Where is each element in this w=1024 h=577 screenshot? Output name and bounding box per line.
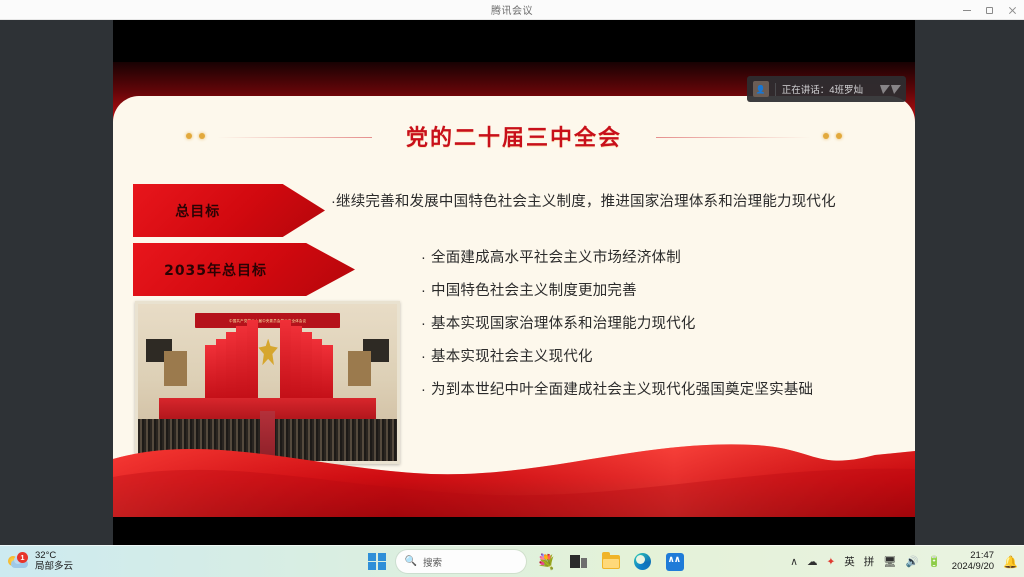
chip-divider [775,83,776,96]
notification-bell-icon[interactable]: 🔔 [1003,555,1018,569]
red-flag [226,332,237,404]
file-explorer-button[interactable] [600,551,622,573]
hall-banner: 中国共产党第二十届中央委员会第三次全体会议 [195,313,340,327]
list-item: ·全面建成高水平社会主义市场经济体制 [421,248,891,269]
cloud-sync-icon[interactable]: ☁ [807,556,818,568]
bullet-marker: · [421,281,426,302]
arrow-shape: 2035年总目标 [133,243,355,296]
show-hidden-icons-button[interactable]: ∧ [790,556,798,568]
presentation-slide: 党的二十届三中全会 总目标 2035年总目标 [113,62,915,517]
search-placeholder: 搜索 [423,555,442,569]
red-flag [205,345,216,405]
list-item-text: 为到本世纪中叶全面建成社会主义现代化强国奠定坚实基础 [431,382,813,398]
maximize-icon [986,7,993,14]
dot-icon [836,133,842,139]
window-title: 腾讯会议 [491,2,533,17]
shared-screen-stage[interactable]: 党的二十届三中全会 总目标 2035年总目标 [113,20,915,545]
list-item: ·中国特色社会主义制度更加完善 [421,281,891,302]
red-flag [280,320,291,405]
weather-temperature: 32°C [35,551,73,562]
notification-badge: 1 [17,552,28,563]
arrow-shape: 总目标 [133,184,325,237]
flower-icon: 💐 [537,553,556,571]
decorative-dots-left [186,133,205,139]
minimize-icon [963,10,971,11]
bullet-marker: · [421,380,426,401]
dot-icon [823,133,829,139]
bullet-marker: · [421,248,426,269]
arrow-label: 总目标 [133,201,220,221]
windows-taskbar: 1 32°C 局部多云 🔍 搜索 💐 ∧ ☁ ✦ 英 拼 🖥 🔊 🔋 21:47 [0,545,1024,577]
tencent-meeting-window: 腾讯会议 党的二十届三中全会 [0,0,1024,545]
red-flag [322,345,333,405]
search-input[interactable]: 🔍 搜索 [396,550,526,573]
slide-card: 党的二十届三中全会 总目标 2035年总目标 [113,96,915,517]
arrow-2035-goal: 2035年总目标 [133,243,355,296]
avatar: 👤 [753,81,769,97]
list-item-text: 中国特色社会主义制度更加完善 [431,283,637,299]
bullet-marker: · [421,314,426,335]
minimize-button[interactable] [955,0,978,20]
folder-icon [602,555,620,569]
red-flag [312,339,323,405]
list-item-text: 基本实现社会主义现代化 [431,349,593,365]
list-item: ·基本实现社会主义现代化 [421,347,891,368]
red-app-icon[interactable]: ✦ [826,556,835,568]
lead-bullet-text: ·继续完善和发展中国特色社会主义制度，推进国家治理体系和治理能力现代化 [331,192,891,214]
search-icon: 🔍 [405,556,417,567]
list-item: ·基本实现国家治理体系和治理能力现代化 [421,314,891,335]
edge-button[interactable] [632,551,654,573]
list-item-text: 全面建成高水平社会主义市场经济体制 [431,250,681,266]
header-rule-right [656,137,811,138]
goal-bullet-list: ·全面建成高水平社会主义市场经济体制 ·中国特色社会主义制度更加完善 ·基本实现… [421,248,891,413]
red-flag [247,320,258,405]
clock-date: 2024/9/20 [952,562,994,573]
tencent-meeting-icon [666,553,684,571]
ime-pinyin-button[interactable]: 拼 [864,554,875,569]
active-speaker-chip[interactable]: 👤 正在讲话：4班罗灿 [747,76,906,102]
dot-icon [199,133,205,139]
audio-wave-icon [879,85,900,94]
network-icon[interactable]: 🖥 [883,555,896,568]
weather-icon: 1 [8,553,30,571]
start-button[interactable] [368,553,386,571]
window-titlebar: 腾讯会议 [0,0,1024,20]
weather-condition: 局部多云 [35,562,73,573]
hall-banner-text: 中国共产党第二十届中央委员会第三次全体会议 [229,318,306,323]
red-flag [216,339,227,405]
task-view-button[interactable] [568,551,590,573]
list-item: ·为到本世纪中叶全面建成社会主义现代化强国奠定坚实基础 [421,380,891,401]
battery-icon[interactable]: 🔋 [928,555,941,568]
arrow-overall-goal: 总目标 [133,184,325,237]
list-item-text: 基本实现国家治理体系和治理能力现代化 [431,316,696,332]
red-flag [291,326,302,405]
system-tray: ∧ ☁ ✦ 英 拼 🖥 🔊 🔋 21:47 2024/9/20 🔔 [790,551,1018,573]
red-ribbon-decoration [113,425,915,517]
edge-icon [634,553,651,570]
dot-icon [186,133,192,139]
clock-time: 21:47 [970,551,994,562]
maximize-button[interactable] [978,0,1001,20]
weather-widget[interactable]: 1 32°C 局部多云 [8,551,73,572]
task-view-icon [570,555,587,568]
hall-side-door [348,351,371,386]
clock[interactable]: 21:47 2024/9/20 [952,551,994,573]
close-button[interactable] [1001,0,1024,20]
decorative-dots-right [823,133,842,139]
ime-language-button[interactable]: 英 [844,554,855,569]
taskbar-center-group: 🔍 搜索 💐 [368,550,686,573]
arrow-label: 2035年总目标 [133,260,267,280]
tencent-meeting-button[interactable] [664,551,686,573]
active-speaker-label: 正在讲话：4班罗灿 [782,82,863,96]
header-rule-left [217,137,372,138]
volume-icon[interactable]: 🔊 [906,555,919,568]
hall-side-door [164,351,187,386]
close-icon [1008,6,1017,15]
widgets-flower-button[interactable]: 💐 [536,551,558,573]
window-controls [955,0,1024,20]
slide-header: 党的二十届三中全会 [113,120,915,156]
ribbon-svg [113,425,915,517]
red-flag [301,332,312,404]
red-flag [236,326,247,405]
bullet-marker: · [421,347,426,368]
slide-title: 党的二十届三中全会 [406,120,622,152]
weather-text: 32°C 局部多云 [35,551,73,572]
